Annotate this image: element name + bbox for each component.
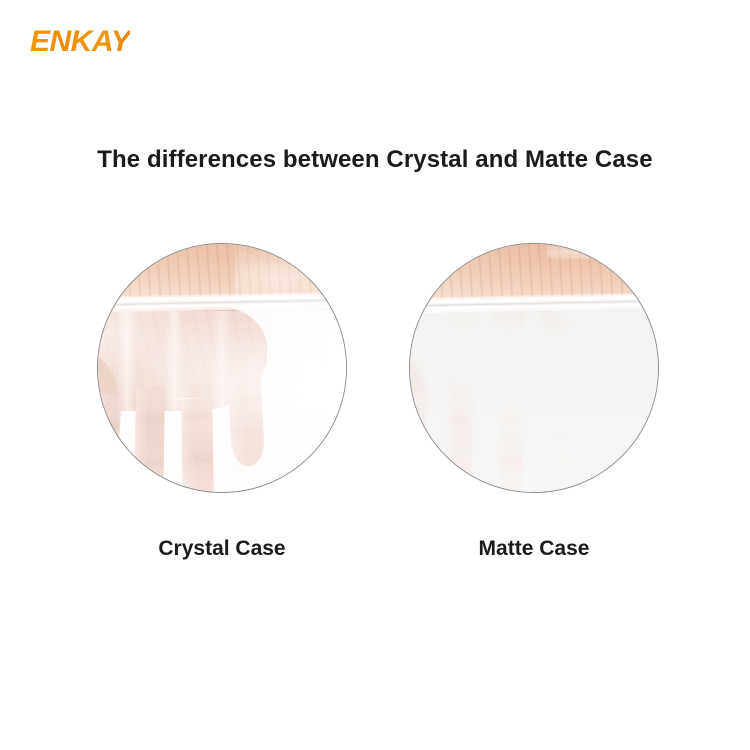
finger-1 [97,392,122,493]
crystal-case-photo [97,243,347,493]
finger-1 [409,393,430,493]
enkay-logo: ENKAY [30,27,130,57]
crystal-case-panel [97,243,347,493]
hand-through-crystal-case-image [97,243,347,493]
crystal-case-label: Crystal Case [97,537,347,561]
wrist-highlight-sharp [547,243,660,259]
page-title: The differences between Crystal and Matt… [0,146,750,174]
matte-case-panel [409,243,659,493]
finger-4 [539,375,578,470]
matte-case-photo [409,243,659,493]
finger-3 [491,383,526,493]
product-comparison-page: ENKAY The differences between Crystal an… [0,0,750,750]
matte-case-label: Matte Case [409,537,659,561]
finger-2 [442,386,474,493]
finger-4 [227,375,264,467]
finger-2 [133,385,164,493]
finger-3 [181,383,214,493]
